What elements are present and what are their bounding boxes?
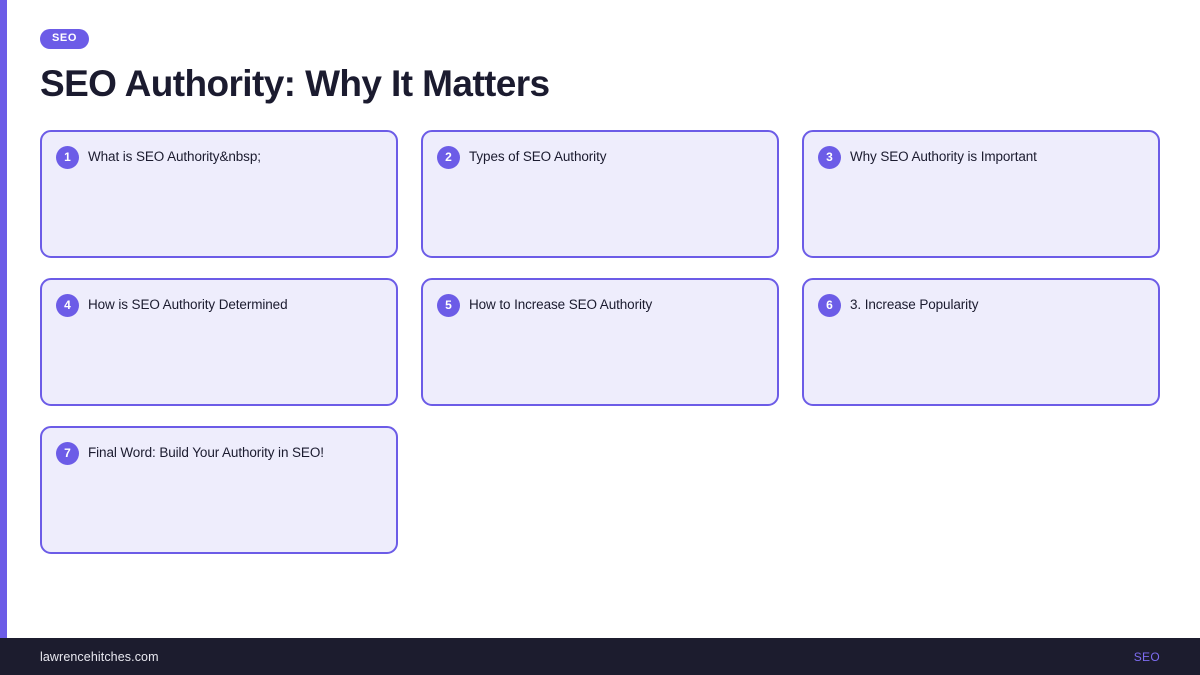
card-label: Why SEO Authority is Important: [850, 145, 1037, 166]
card-label: What is SEO Authority&nbsp;: [88, 145, 261, 166]
footer-category-tag: SEO: [1134, 650, 1160, 664]
category-badge: SEO: [40, 29, 89, 49]
card-number-badge: 4: [56, 294, 79, 317]
card-number-badge: 6: [818, 294, 841, 317]
page-title: SEO Authority: Why It Matters: [40, 65, 1160, 104]
card-label: Final Word: Build Your Authority in SEO!: [88, 441, 324, 462]
card-label: 3. Increase Popularity: [850, 293, 978, 314]
outline-card[interactable]: 3 Why SEO Authority is Important: [802, 130, 1160, 258]
slide: SEO SEO Authority: Why It Matters 1 What…: [0, 0, 1200, 675]
card-number-badge: 7: [56, 442, 79, 465]
left-accent-bar: [0, 0, 7, 638]
outline-card[interactable]: 7 Final Word: Build Your Authority in SE…: [40, 426, 398, 554]
card-number-badge: 2: [437, 146, 460, 169]
outline-card[interactable]: 6 3. Increase Popularity: [802, 278, 1160, 406]
card-number-badge: 3: [818, 146, 841, 169]
slide-content: SEO SEO Authority: Why It Matters 1 What…: [0, 0, 1200, 554]
card-grid: 1 What is SEO Authority&nbsp; 2 Types of…: [40, 130, 1160, 554]
card-number-badge: 1: [56, 146, 79, 169]
slide-canvas: SEO SEO Authority: Why It Matters 1 What…: [0, 0, 1200, 638]
card-label: How to Increase SEO Authority: [469, 293, 652, 314]
outline-card[interactable]: 1 What is SEO Authority&nbsp;: [40, 130, 398, 258]
outline-card[interactable]: 4 How is SEO Authority Determined: [40, 278, 398, 406]
outline-card[interactable]: 5 How to Increase SEO Authority: [421, 278, 779, 406]
card-number-badge: 5: [437, 294, 460, 317]
slide-footer: lawrencehitches.com SEO: [0, 638, 1200, 675]
card-label: Types of SEO Authority: [469, 145, 606, 166]
card-label: How is SEO Authority Determined: [88, 293, 287, 314]
outline-card[interactable]: 2 Types of SEO Authority: [421, 130, 779, 258]
footer-site-url: lawrencehitches.com: [40, 650, 159, 664]
